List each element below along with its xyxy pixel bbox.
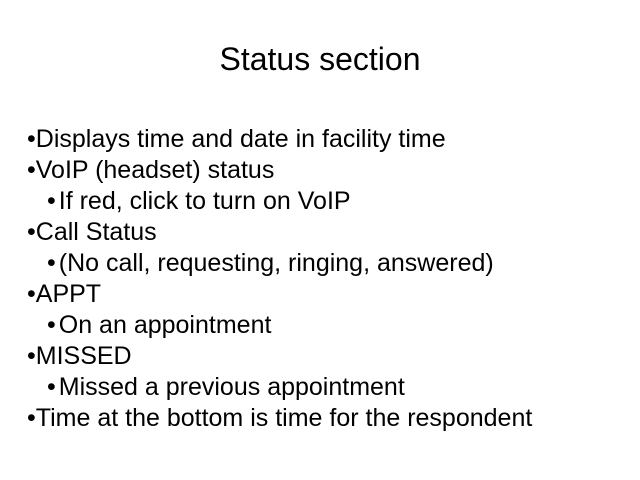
- list-item: •MISSED: [27, 341, 627, 372]
- list-item: •Call Status: [27, 217, 627, 248]
- list-item-label: MISSED: [36, 342, 132, 370]
- list-item: •Time at the bottom is time for the resp…: [27, 403, 627, 434]
- list-item-label: Displays time and date in facility time: [36, 125, 446, 153]
- list-item: •Displays time and date in facility time: [27, 124, 627, 155]
- list-item-label: APPT: [36, 280, 101, 308]
- bullet-icon: •: [47, 372, 56, 403]
- list-item-label: VoIP (headset) status: [36, 156, 275, 184]
- bullet-icon: •: [27, 403, 36, 434]
- bullet-icon: •: [47, 248, 56, 279]
- bullet-list: •Displays time and date in facility time…: [27, 124, 627, 434]
- bullet-icon: •: [27, 217, 36, 248]
- slide-canvas: Status section •Displays time and date i…: [0, 0, 640, 480]
- list-item-label: Time at the bottom is time for the respo…: [36, 404, 533, 432]
- list-item: •APPT: [27, 279, 627, 310]
- list-item: •Missed a previous appointment: [27, 372, 627, 403]
- list-item: •On an appointment: [27, 310, 627, 341]
- list-item: •If red, click to turn on VoIP: [27, 186, 627, 217]
- list-item-label: On an appointment: [59, 311, 272, 339]
- bullet-icon: •: [27, 155, 36, 186]
- list-item: •VoIP (headset) status: [27, 155, 627, 186]
- list-item-label: (No call, requesting, ringing, answered): [59, 249, 494, 277]
- list-item-label: Call Status: [36, 218, 157, 246]
- bullet-icon: •: [47, 310, 56, 341]
- page-title: Status section: [0, 40, 640, 78]
- bullet-icon: •: [27, 124, 36, 155]
- list-item-label: If red, click to turn on VoIP: [59, 187, 351, 215]
- list-item: •(No call, requesting, ringing, answered…: [27, 248, 627, 279]
- bullet-icon: •: [27, 279, 36, 310]
- bullet-icon: •: [47, 186, 56, 217]
- list-item-label: Missed a previous appointment: [59, 373, 405, 401]
- bullet-icon: •: [27, 341, 36, 372]
